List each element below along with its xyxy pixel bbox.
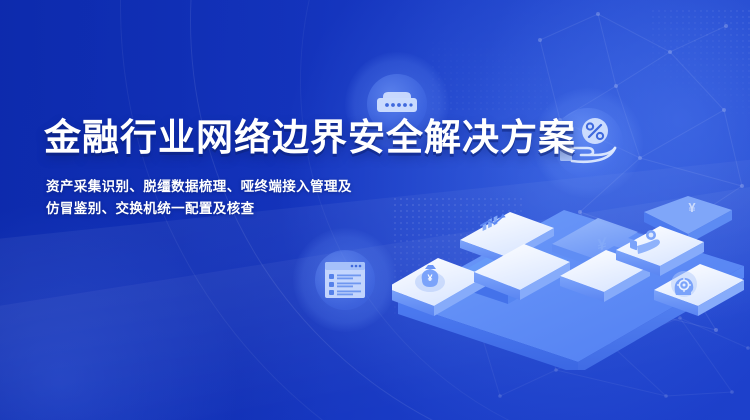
svg-text:¥: ¥ <box>688 200 696 215</box>
banner-text-block: 金融行业网络边界安全解决方案 资产采集识别、脱缰数据梳理、哑终端接入管理及 仿冒… <box>44 118 514 220</box>
svg-text:¥: ¥ <box>427 273 432 283</box>
document-window-badge <box>293 228 397 332</box>
tile-yen-top: ¥ <box>688 200 696 215</box>
router-icon <box>374 87 420 121</box>
subtitle-line-2: 仿冒鉴别、交换机统一配置及核查 <box>46 198 514 220</box>
page-title: 金融行业网络边界安全解决方案 <box>44 118 514 158</box>
page-subtitle: 资产采集识别、脱缰数据梳理、哑终端接入管理及 仿冒鉴别、交换机统一配置及核查 <box>46 176 514 220</box>
svg-text:¥: ¥ <box>597 233 607 255</box>
financial-security-banner: ¥ ¥ <box>0 0 750 420</box>
document-window-icon <box>324 261 366 299</box>
subtitle-line-1: 资产采集识别、脱缰数据梳理、哑终端接入管理及 <box>46 176 514 198</box>
